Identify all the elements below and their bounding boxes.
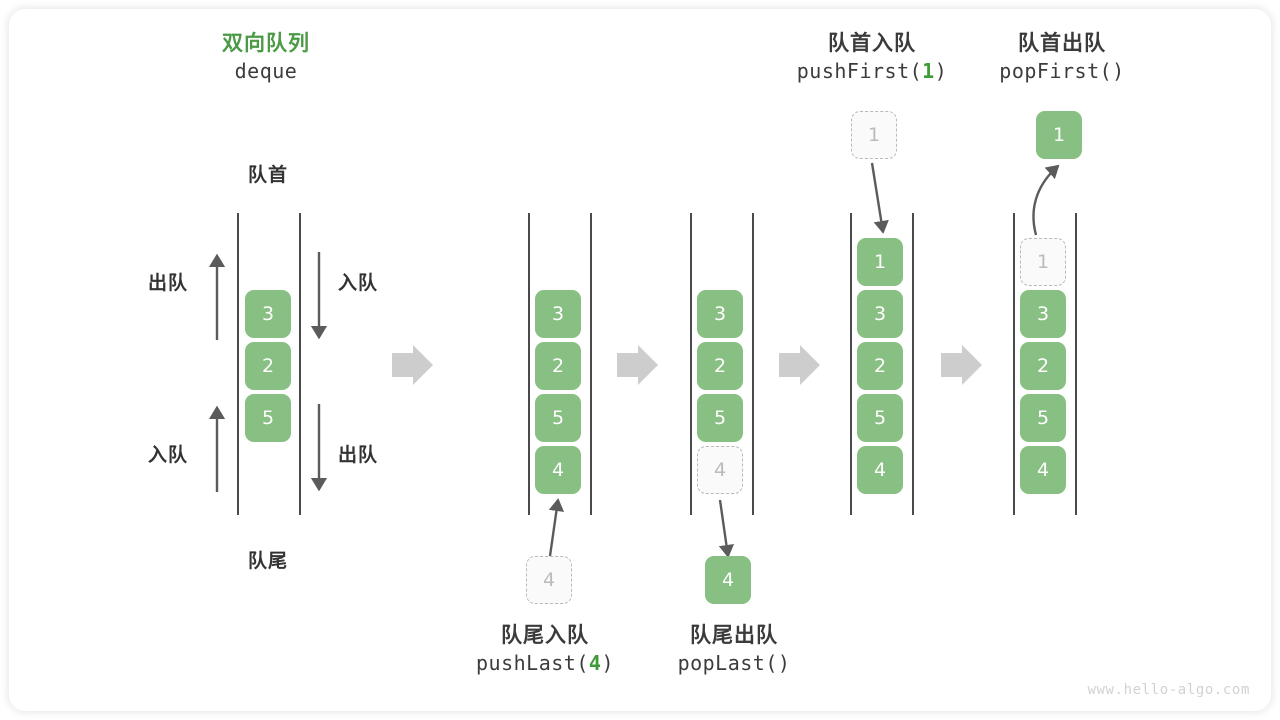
deque-item: 3 [697, 290, 743, 338]
rail-left-p4 [850, 213, 852, 515]
code-prefix: pushFirst( [797, 59, 922, 83]
deque-item-ghost: 1 [1020, 238, 1066, 286]
header-pop-first: 队首出队 popFirst() [962, 30, 1162, 85]
deque-item: 2 [535, 342, 581, 390]
rail-right-p3 [752, 213, 754, 515]
label-rear-enqueue: 入队 [148, 440, 188, 467]
code-arg: 1 [922, 59, 935, 83]
rail-left-p2 [528, 213, 530, 515]
code-arg: 4 [589, 651, 602, 675]
flow-arrow-3 [779, 345, 820, 385]
label-front-enqueue: 入队 [338, 268, 378, 295]
title-deque: 双向队列 deque [166, 30, 366, 85]
code-suffix: ) [1112, 59, 1125, 83]
rail-right-p2 [590, 213, 592, 515]
deque-item: 5 [245, 394, 291, 442]
title-code: deque [166, 58, 366, 85]
code-suffix: ) [778, 651, 791, 675]
external-item: 4 [705, 556, 751, 604]
diagram-stage: 双向队列 deque 队首入队 pushFirst(1) 队首出队 popFir… [0, 0, 1280, 720]
arrow-layer [0, 0, 1280, 720]
footer-pop-last-cn: 队尾出队 [634, 622, 834, 650]
footer-push-last-code: pushLast(4) [445, 650, 645, 677]
header-pop-first-code: popFirst() [962, 58, 1162, 85]
label-rear: 队尾 [218, 546, 318, 573]
label-front: 队首 [218, 160, 318, 187]
rail-right-p4 [912, 213, 914, 515]
deque-item: 3 [245, 290, 291, 338]
deque-item-ghost: 4 [697, 446, 743, 494]
footer-pop-last: 队尾出队 popLast() [634, 622, 834, 677]
code-prefix: popLast( [678, 651, 778, 675]
deque-item: 5 [1020, 394, 1066, 442]
label-rear-dequeue: 出队 [338, 440, 378, 467]
rail-right-p1 [299, 213, 301, 515]
deque-item: 5 [857, 394, 903, 442]
deque-item: 2 [245, 342, 291, 390]
deque-item: 4 [857, 446, 903, 494]
title-cn: 双向队列 [166, 30, 366, 58]
footer-push-last-cn: 队尾入队 [445, 622, 645, 650]
arrow-pop-last [720, 500, 728, 556]
code-suffix: ) [935, 59, 948, 83]
deque-item: 5 [535, 394, 581, 442]
header-push-first: 队首入队 pushFirst(1) [772, 30, 972, 85]
arrow-push-first [872, 163, 883, 232]
flow-arrow-1 [392, 345, 433, 385]
rail-left-p3 [690, 213, 692, 515]
external-item-ghost: 1 [851, 111, 897, 159]
deque-item: 4 [535, 446, 581, 494]
deque-item: 2 [857, 342, 903, 390]
deque-item: 1 [857, 238, 903, 286]
code-prefix: pushLast( [476, 651, 589, 675]
arrow-pop-first [1033, 166, 1058, 235]
deque-item: 2 [1020, 342, 1066, 390]
flow-arrow-2 [617, 345, 658, 385]
deque-item: 4 [1020, 446, 1066, 494]
watermark: www.hello-algo.com [1087, 682, 1250, 698]
code-suffix: ) [601, 651, 614, 675]
deque-item: 5 [697, 394, 743, 442]
header-pop-first-cn: 队首出队 [962, 30, 1162, 58]
rail-right-p5 [1075, 213, 1077, 515]
header-push-first-cn: 队首入队 [772, 30, 972, 58]
external-item: 1 [1036, 111, 1082, 159]
rail-left-p1 [237, 213, 239, 515]
external-item-ghost: 4 [526, 556, 572, 604]
code-prefix: popFirst( [999, 59, 1112, 83]
footer-push-last: 队尾入队 pushLast(4) [445, 622, 645, 677]
deque-item: 3 [1020, 290, 1066, 338]
flow-arrow-4 [941, 345, 982, 385]
rail-left-p5 [1013, 213, 1015, 515]
deque-item: 3 [535, 290, 581, 338]
header-push-first-code: pushFirst(1) [772, 58, 972, 85]
deque-item: 2 [697, 342, 743, 390]
footer-pop-last-code: popLast() [634, 650, 834, 677]
label-front-dequeue: 出队 [148, 268, 188, 295]
deque-item: 3 [857, 290, 903, 338]
arrow-push-last [550, 500, 558, 556]
